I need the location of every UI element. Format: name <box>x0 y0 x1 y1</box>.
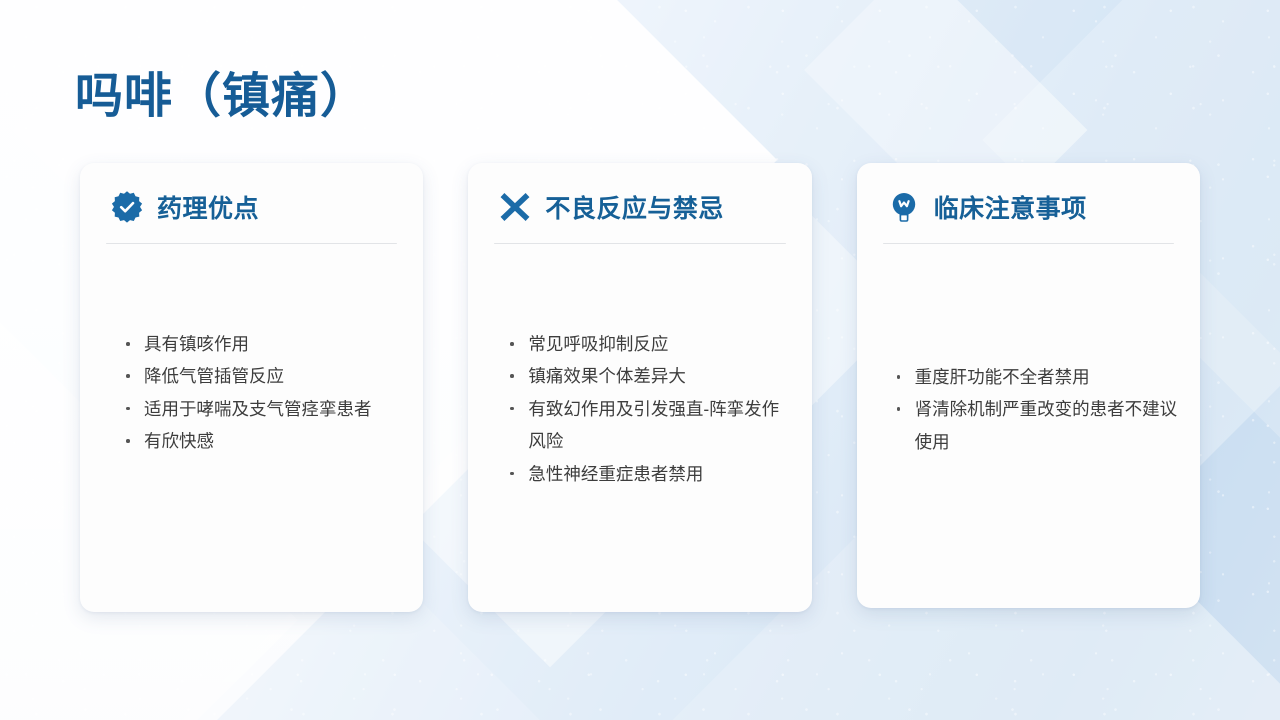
slide-root: 吗啡（镇痛） 药理优点 具有镇咳作用 降低气管插管反应 适用于哮喘及支气管痉挛患… <box>0 0 1280 720</box>
list-item: 降低气管插管反应 <box>118 360 401 392</box>
card-header: 不良反应与禁忌 <box>490 189 789 225</box>
card-adverse-reactions: 不良反应与禁忌 常见呼吸抑制反应 镇痛效果个体差异大 有致幻作用及引发强直-阵挛… <box>468 163 811 612</box>
list-item: 急性神经重症患者禁用 <box>502 458 789 490</box>
card-header: 临床注意事项 <box>879 189 1178 225</box>
card-header: 药理优点 <box>102 189 401 225</box>
card-title: 药理优点 <box>157 189 259 225</box>
list-item: 肾清除机制严重改变的患者不建议使用 <box>889 393 1178 458</box>
card-title: 临床注意事项 <box>934 189 1087 225</box>
cards-container: 药理优点 具有镇咳作用 降低气管插管反应 适用于哮喘及支气管痉挛患者 有欣快感 <box>80 163 1200 612</box>
cross-x-icon <box>498 190 532 224</box>
card-body: 常见呼吸抑制反应 镇痛效果个体差异大 有致幻作用及引发强直-阵挛发作风险 急性神… <box>490 328 789 490</box>
bullet-list: 重度肝功能不全者禁用 肾清除机制严重改变的患者不建议使用 <box>889 361 1178 458</box>
list-item: 常见呼吸抑制反应 <box>502 328 789 360</box>
list-item: 具有镇咳作用 <box>118 328 401 360</box>
card-pharmacological-advantages: 药理优点 具有镇咳作用 降低气管插管反应 适用于哮喘及支气管痉挛患者 有欣快感 <box>80 163 423 612</box>
list-item: 镇痛效果个体差异大 <box>502 360 789 392</box>
lightbulb-icon <box>887 190 921 224</box>
card-clinical-notes: 临床注意事项 重度肝功能不全者禁用 肾清除机制严重改变的患者不建议使用 <box>857 163 1200 608</box>
list-item: 重度肝功能不全者禁用 <box>889 361 1178 393</box>
card-body: 重度肝功能不全者禁用 肾清除机制严重改变的患者不建议使用 <box>879 361 1178 458</box>
card-divider <box>106 243 397 244</box>
list-item: 有致幻作用及引发强直-阵挛发作风险 <box>502 393 789 458</box>
card-divider <box>883 243 1174 244</box>
card-divider <box>494 243 785 244</box>
badge-check-icon <box>110 190 144 224</box>
card-title: 不良反应与禁忌 <box>545 189 724 225</box>
bullet-list: 具有镇咳作用 降低气管插管反应 适用于哮喘及支气管痉挛患者 有欣快感 <box>118 328 401 458</box>
list-item: 有欣快感 <box>118 425 401 457</box>
page-title: 吗啡（镇痛） <box>75 56 369 126</box>
list-item: 适用于哮喘及支气管痉挛患者 <box>118 393 401 425</box>
card-body: 具有镇咳作用 降低气管插管反应 适用于哮喘及支气管痉挛患者 有欣快感 <box>102 328 401 458</box>
bullet-list: 常见呼吸抑制反应 镇痛效果个体差异大 有致幻作用及引发强直-阵挛发作风险 急性神… <box>502 328 789 490</box>
